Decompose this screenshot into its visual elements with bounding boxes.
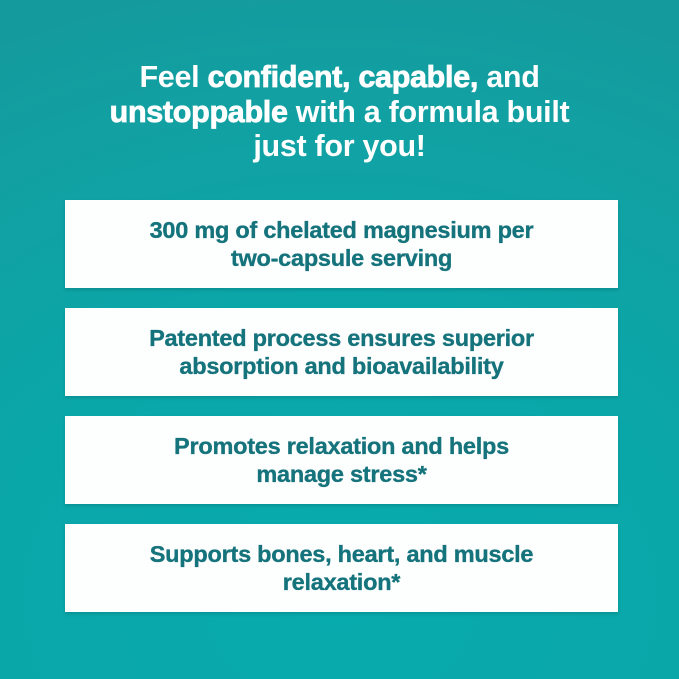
benefit-card-line-1: Supports bones, heart, and muscle bbox=[150, 541, 534, 567]
headline-line-1: Feel confident, capable, and bbox=[42, 60, 637, 95]
benefit-card-line-1: Promotes relaxation and helps bbox=[174, 433, 509, 459]
headline-segment-emphasis: confident, capable, bbox=[207, 60, 478, 94]
benefit-card-line-1: 300 mg of chelated magnesium per bbox=[150, 217, 534, 243]
benefit-card-line-2: absorption and bioavailability bbox=[179, 353, 503, 379]
headline-line-2: unstoppable with a formula built bbox=[42, 95, 637, 130]
headline-segment: and bbox=[478, 60, 540, 94]
benefit-card-magnesium-dose: 300 mg of chelated magnesium per two-cap… bbox=[65, 200, 618, 288]
benefit-card-text: Promotes relaxation and helps manage str… bbox=[174, 432, 509, 488]
page-title: Feel confident, capable, and unstoppable… bbox=[0, 60, 679, 164]
product-benefits-poster: Feel confident, capable, and unstoppable… bbox=[0, 0, 679, 679]
benefit-card-line-2: relaxation* bbox=[283, 569, 400, 595]
benefit-card-bones-heart-muscle: Supports bones, heart, and muscle relaxa… bbox=[65, 524, 618, 612]
headline-segment-emphasis: unstoppable bbox=[110, 95, 288, 129]
benefit-card-line-2: two-capsule serving bbox=[231, 245, 452, 271]
headline-segment: Feel bbox=[139, 60, 207, 94]
benefit-card-list: 300 mg of chelated magnesium per two-cap… bbox=[65, 200, 618, 612]
benefit-card-text: 300 mg of chelated magnesium per two-cap… bbox=[150, 216, 534, 272]
benefit-card-line-2: manage stress* bbox=[256, 461, 426, 487]
benefit-card-relaxation-stress: Promotes relaxation and helps manage str… bbox=[65, 416, 618, 504]
benefit-card-text: Patented process ensures superior absorp… bbox=[149, 324, 534, 380]
benefit-card-text: Supports bones, heart, and muscle relaxa… bbox=[150, 540, 534, 596]
headline-segment: just for you! bbox=[253, 129, 425, 163]
benefit-card-absorption: Patented process ensures superior absorp… bbox=[65, 308, 618, 396]
benefit-card-line-1: Patented process ensures superior bbox=[149, 325, 534, 351]
headline-line-3: just for you! bbox=[42, 129, 637, 164]
headline-segment: with a formula built bbox=[288, 95, 570, 129]
